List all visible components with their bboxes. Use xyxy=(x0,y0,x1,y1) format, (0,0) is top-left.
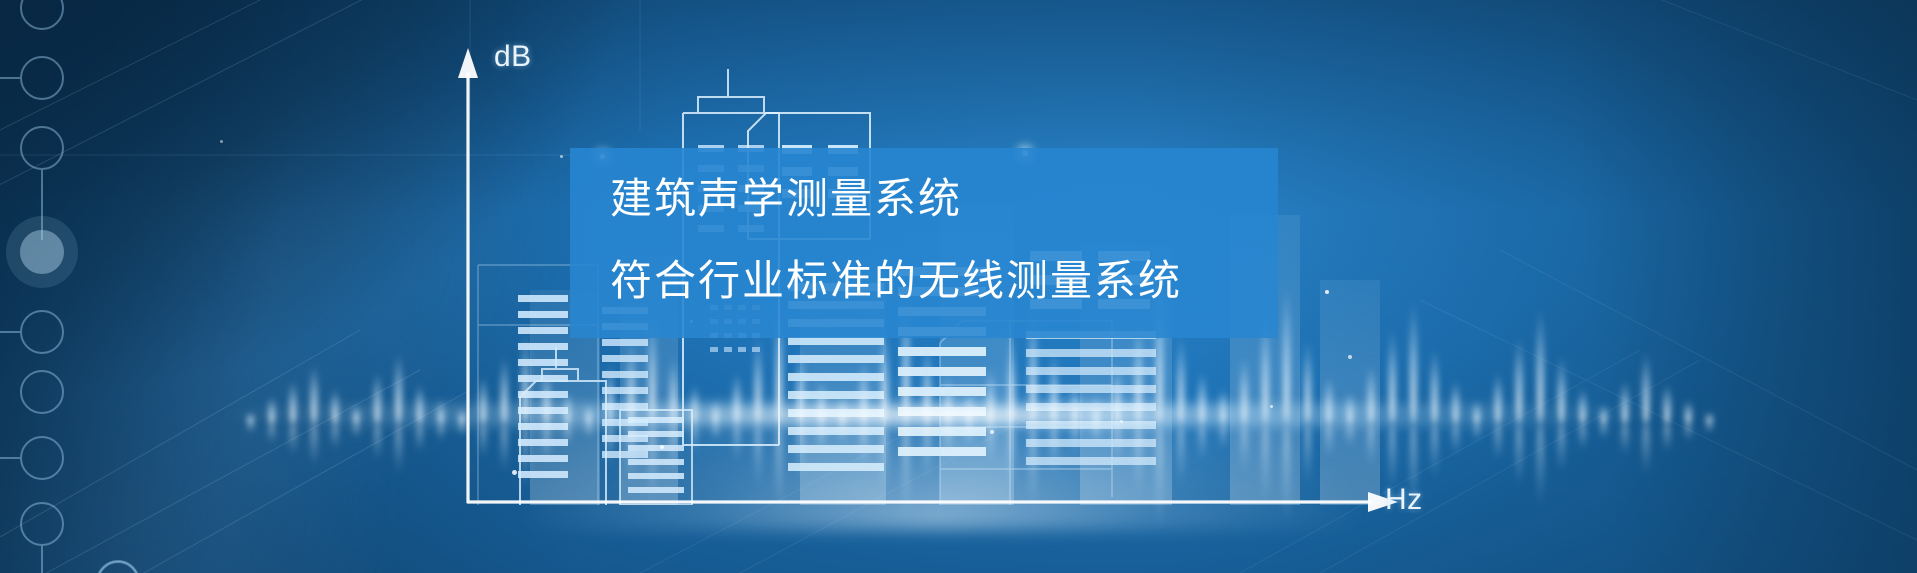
headline-panel: 建筑声学测量系统 符合行业标准的无线测量系统 xyxy=(570,148,1278,338)
sparkle-dot xyxy=(512,470,517,475)
sparkle-dot xyxy=(1120,420,1123,423)
headline-secondary: 符合行业标准的无线测量系统 xyxy=(610,260,1278,302)
sparkle-dot xyxy=(1348,355,1352,359)
sparkle-dot xyxy=(660,445,664,449)
headline-primary: 建筑声学测量系统 xyxy=(610,178,1278,220)
sparkle-dot xyxy=(1270,405,1273,408)
sparkle-dot xyxy=(220,140,223,143)
acoustic-measurement-banner: dB Hz 建筑声学测量系统 符合行业标准的无线测量系统 xyxy=(0,0,1917,573)
sparkle-dot xyxy=(1325,290,1329,294)
sparkle-dot xyxy=(560,155,563,158)
y-axis-label: dB xyxy=(494,40,532,74)
arrow-up-icon xyxy=(458,48,478,78)
sparkle-dot xyxy=(990,430,994,434)
x-axis-label: Hz xyxy=(1385,483,1423,517)
